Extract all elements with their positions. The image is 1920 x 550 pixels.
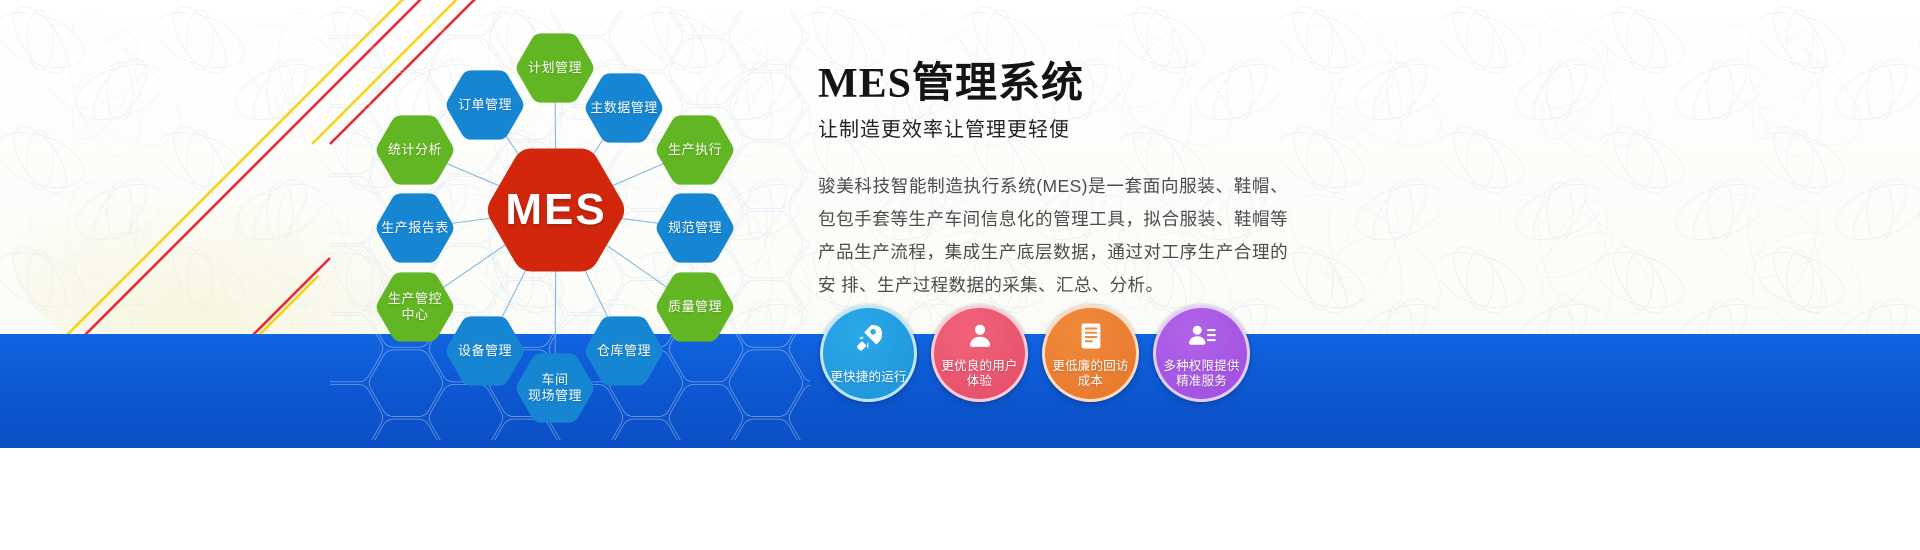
feature-badge-ux[interactable]: 更优良的用户 体验 [931, 305, 1028, 402]
text-column: MES管理系统 让制造更效率让管理更轻便 骏美科技智能制造执行系统(MES)是一… [818, 58, 1378, 302]
contact-icon [1156, 321, 1247, 351]
feature-badge-label-perm: 多种权限提供 精准服务 [1156, 359, 1248, 399]
hex-node-center-mes[interactable] [488, 149, 624, 272]
feature-badge-cost[interactable]: 更低廉的回访 成本 [1042, 305, 1139, 402]
feature-badge-perm[interactable]: 多种权限提供 精准服务 [1153, 305, 1250, 402]
banner-stage: MES计划管理订单管理主数据管理统计分析生产执行生产报告表规范管理生产管控 中心… [0, 0, 1920, 550]
hex-node-equipment[interactable] [447, 316, 524, 385]
feature-badge-label-ux: 更优良的用户 体验 [934, 359, 1026, 399]
feature-badge-row: 更快捷的运行更优良的用户 体验更低廉的回访 成本多种权限提供 精准服务 [820, 305, 1250, 402]
document-icon [1045, 321, 1136, 351]
background-bottom-white [0, 448, 1920, 550]
hexagon-diagram-svg [330, 10, 810, 440]
user-icon [934, 321, 1025, 351]
hex-node-order[interactable] [447, 70, 524, 139]
hex-node-statistics[interactable] [377, 115, 454, 184]
feature-badge-fast[interactable]: 更快捷的运行 [820, 305, 917, 402]
hex-node-workshop[interactable] [517, 353, 594, 422]
hex-node-masterdata[interactable] [586, 73, 663, 142]
hex-node-control[interactable] [377, 272, 454, 341]
feature-badge-label-cost: 更低廉的回访 成本 [1045, 359, 1137, 399]
hex-node-plan[interactable] [517, 33, 594, 102]
hex-node-report[interactable] [377, 193, 454, 262]
hex-node-execution[interactable] [657, 115, 734, 184]
page-title: MES管理系统 [818, 58, 1378, 110]
hex-node-warehouse[interactable] [586, 316, 663, 385]
description-paragraph: 骏美科技智能制造执行系统(MES)是一套面向服装、鞋帽、包包手套等生产车间信息化… [818, 170, 1288, 302]
rocket-icon [823, 321, 914, 351]
mes-hexagon-diagram: MES计划管理订单管理主数据管理统计分析生产执行生产报告表规范管理生产管控 中心… [330, 10, 810, 440]
feature-badge-label-fast: 更快捷的运行 [823, 370, 915, 399]
hex-node-quality[interactable] [657, 272, 734, 341]
page-subtitle: 让制造更效率让管理更轻便 [818, 116, 1378, 144]
